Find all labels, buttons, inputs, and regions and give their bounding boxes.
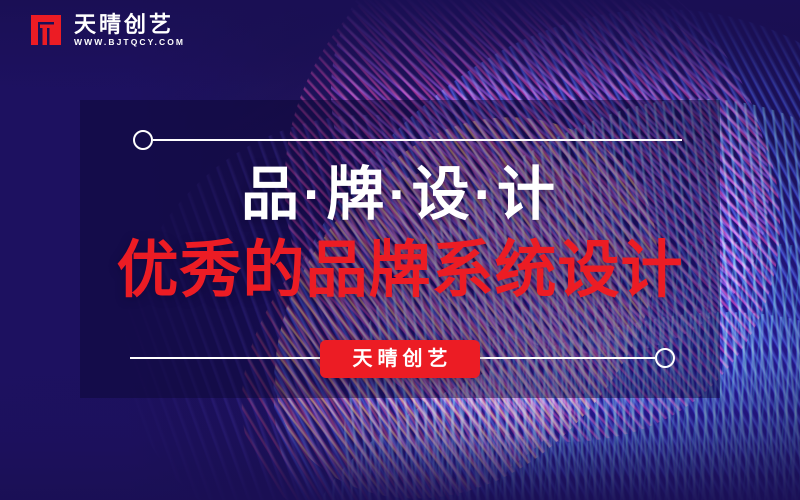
- circle-outline-icon: [655, 348, 675, 368]
- brand-badge-label: 天晴创艺: [348, 349, 453, 369]
- tianqing-logo-mark-icon: [28, 12, 64, 48]
- brand-logo: 天晴创艺 WWW.BJTQCY.COM: [28, 12, 185, 48]
- top-decorative-rule: [133, 130, 682, 150]
- brand-badge: 天晴创艺: [320, 340, 480, 378]
- circle-outline-icon: [133, 130, 153, 150]
- horizontal-line: [153, 139, 682, 141]
- logo-company-name: 天晴创艺: [74, 14, 185, 36]
- logo-website-url: WWW.BJTQCY.COM: [74, 38, 185, 47]
- poster-canvas: 天晴创艺 WWW.BJTQCY.COM 品·牌·设·计 优秀的品牌系统设计 天晴…: [0, 0, 800, 500]
- logo-text-block: 天晴创艺 WWW.BJTQCY.COM: [74, 14, 185, 47]
